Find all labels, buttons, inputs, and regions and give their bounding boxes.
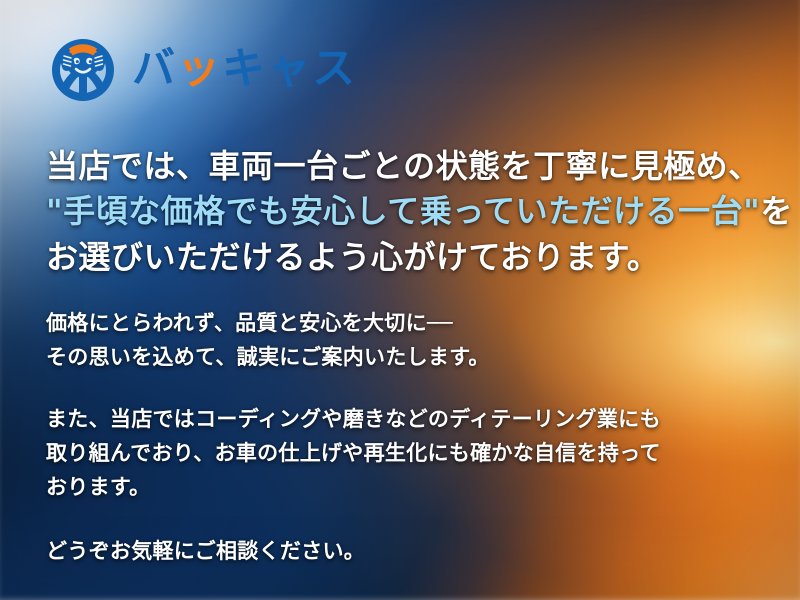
brand-name-part1: バ xyxy=(132,44,177,94)
headline-line-2: "手頃な価格でも安心して乗っていただける一台"を xyxy=(46,189,800,234)
brand-logo: バッキャス xyxy=(46,30,800,108)
headline-line-2-tail: を xyxy=(760,192,793,230)
brand-name-accent: ッ xyxy=(177,44,222,94)
steering-wheel-mascot-icon xyxy=(46,33,120,105)
body-paragraph-3: どうぞお気軽にご相談ください。 xyxy=(46,534,800,568)
headline-line-1: 当店では、車両一台ごとの状態を丁寧に見極め、 xyxy=(46,144,800,189)
banner-content: バッキャス 当店では、車両一台ごとの状態を丁寧に見極め、 "手頃な価格でも安心し… xyxy=(0,0,800,568)
brand-name: バッキャス xyxy=(132,48,357,91)
headline-quoted-phrase: "手頃な価格でも安心して乗っていただける一台" xyxy=(46,192,760,230)
body-line: また、当店ではコーディングや磨きなどのディテーリング業にも xyxy=(46,402,800,436)
body-paragraph-2: また、当店ではコーディングや磨きなどのディテーリング業にも 取り組んでおり、お車… xyxy=(46,402,800,504)
body-line: その思いを込めて、誠実にご案内いたします。 xyxy=(46,340,800,374)
brand-name-part2: キャス xyxy=(222,44,357,94)
body-line: おります。 xyxy=(46,470,800,504)
headline: 当店では、車両一台ごとの状態を丁寧に見極め、 "手頃な価格でも安心して乗っていた… xyxy=(46,144,800,280)
body-line: 取り組んでおり、お車の仕上げや再生化にも確かな自信を持って xyxy=(46,436,800,470)
promo-banner: バッキャス 当店では、車両一台ごとの状態を丁寧に見極め、 "手頃な価格でも安心し… xyxy=(0,0,800,600)
body-line: 価格にとらわれず、品質と安心を大切に── xyxy=(46,306,800,340)
body-paragraph-1: 価格にとらわれず、品質と安心を大切に── その思いを込めて、誠実にご案内いたしま… xyxy=(46,306,800,374)
headline-line-3: お選びいただけるよう心がけております。 xyxy=(46,235,800,280)
body-line: どうぞお気軽にご相談ください。 xyxy=(46,534,800,568)
